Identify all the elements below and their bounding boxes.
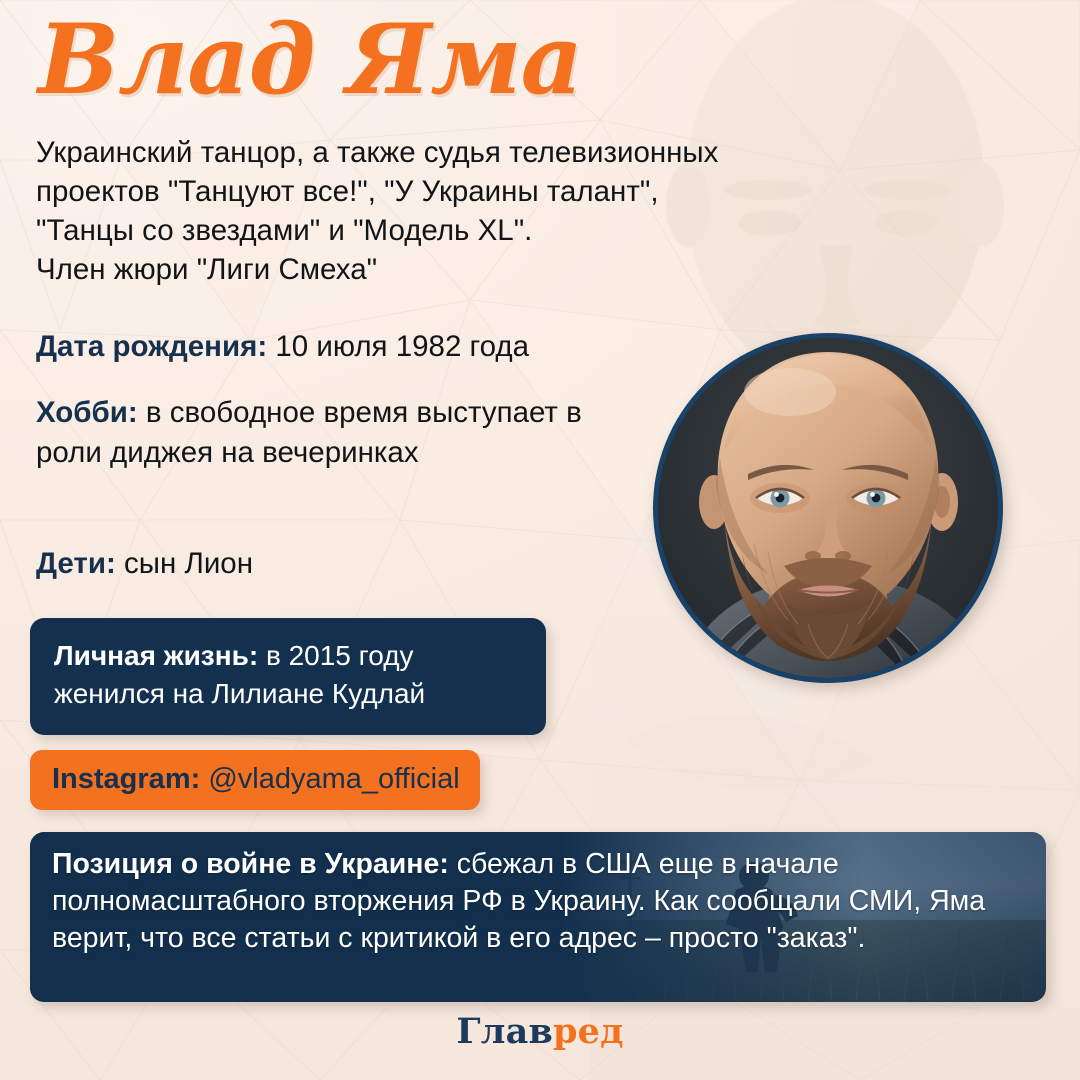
intro-line-3: "Танцы со звездами" и "Модель XL".	[36, 211, 906, 250]
instagram-label: Instagram:	[52, 763, 200, 795]
page-title: Влад Яма	[38, 8, 582, 112]
intro-line-2: проектов "Танцуют все!", "У Украины тала…	[36, 172, 906, 211]
fact-hobby: Хобби: в свободное время выступает в рол…	[36, 393, 596, 473]
fact-birth-date-value: 10 июля 1982 года	[275, 330, 529, 363]
instagram-badge[interactable]: Instagram: @vladyama_official	[30, 750, 480, 810]
war-position-card: Позиция о войне в Украине: сбежал в США …	[30, 832, 1046, 1002]
intro-paragraph: Украинский танцор, а также судья телевиз…	[36, 133, 906, 289]
war-position-label: Позиция о войне в Украине:	[52, 848, 449, 880]
war-position-text: Позиция о войне в Украине: сбежал в США …	[52, 846, 1032, 957]
intro-line-1: Украинский танцор, а также судья телевиз…	[36, 133, 906, 172]
logo-part-dark: Глав	[456, 1011, 553, 1052]
logo-part-orange: ред	[553, 1011, 624, 1052]
personal-life-label: Личная жизнь:	[54, 640, 258, 671]
brand-logo: Главред	[0, 1011, 1080, 1052]
instagram-handle[interactable]: @vladyama_official	[208, 763, 459, 795]
fact-hobby-label: Хобби:	[36, 396, 138, 429]
portrait-avatar	[653, 333, 1003, 683]
fact-children: Дети: сын Лион	[36, 544, 253, 584]
infographic-canvas: Влад Яма Украинский танцор, а также судь…	[0, 0, 1080, 1080]
personal-life-card: Личная жизнь: в 2015 году женился на Лил…	[30, 618, 546, 735]
fact-children-value: сын Лион	[124, 547, 253, 580]
fact-birth-date-label: Дата рождения:	[36, 330, 267, 363]
fact-children-label: Дети:	[36, 547, 116, 580]
intro-line-4: Член жюри "Лиги Смеха"	[36, 250, 906, 289]
portrait-photo	[658, 338, 998, 678]
fact-birth-date: Дата рождения: 10 июля 1982 года	[36, 327, 529, 367]
